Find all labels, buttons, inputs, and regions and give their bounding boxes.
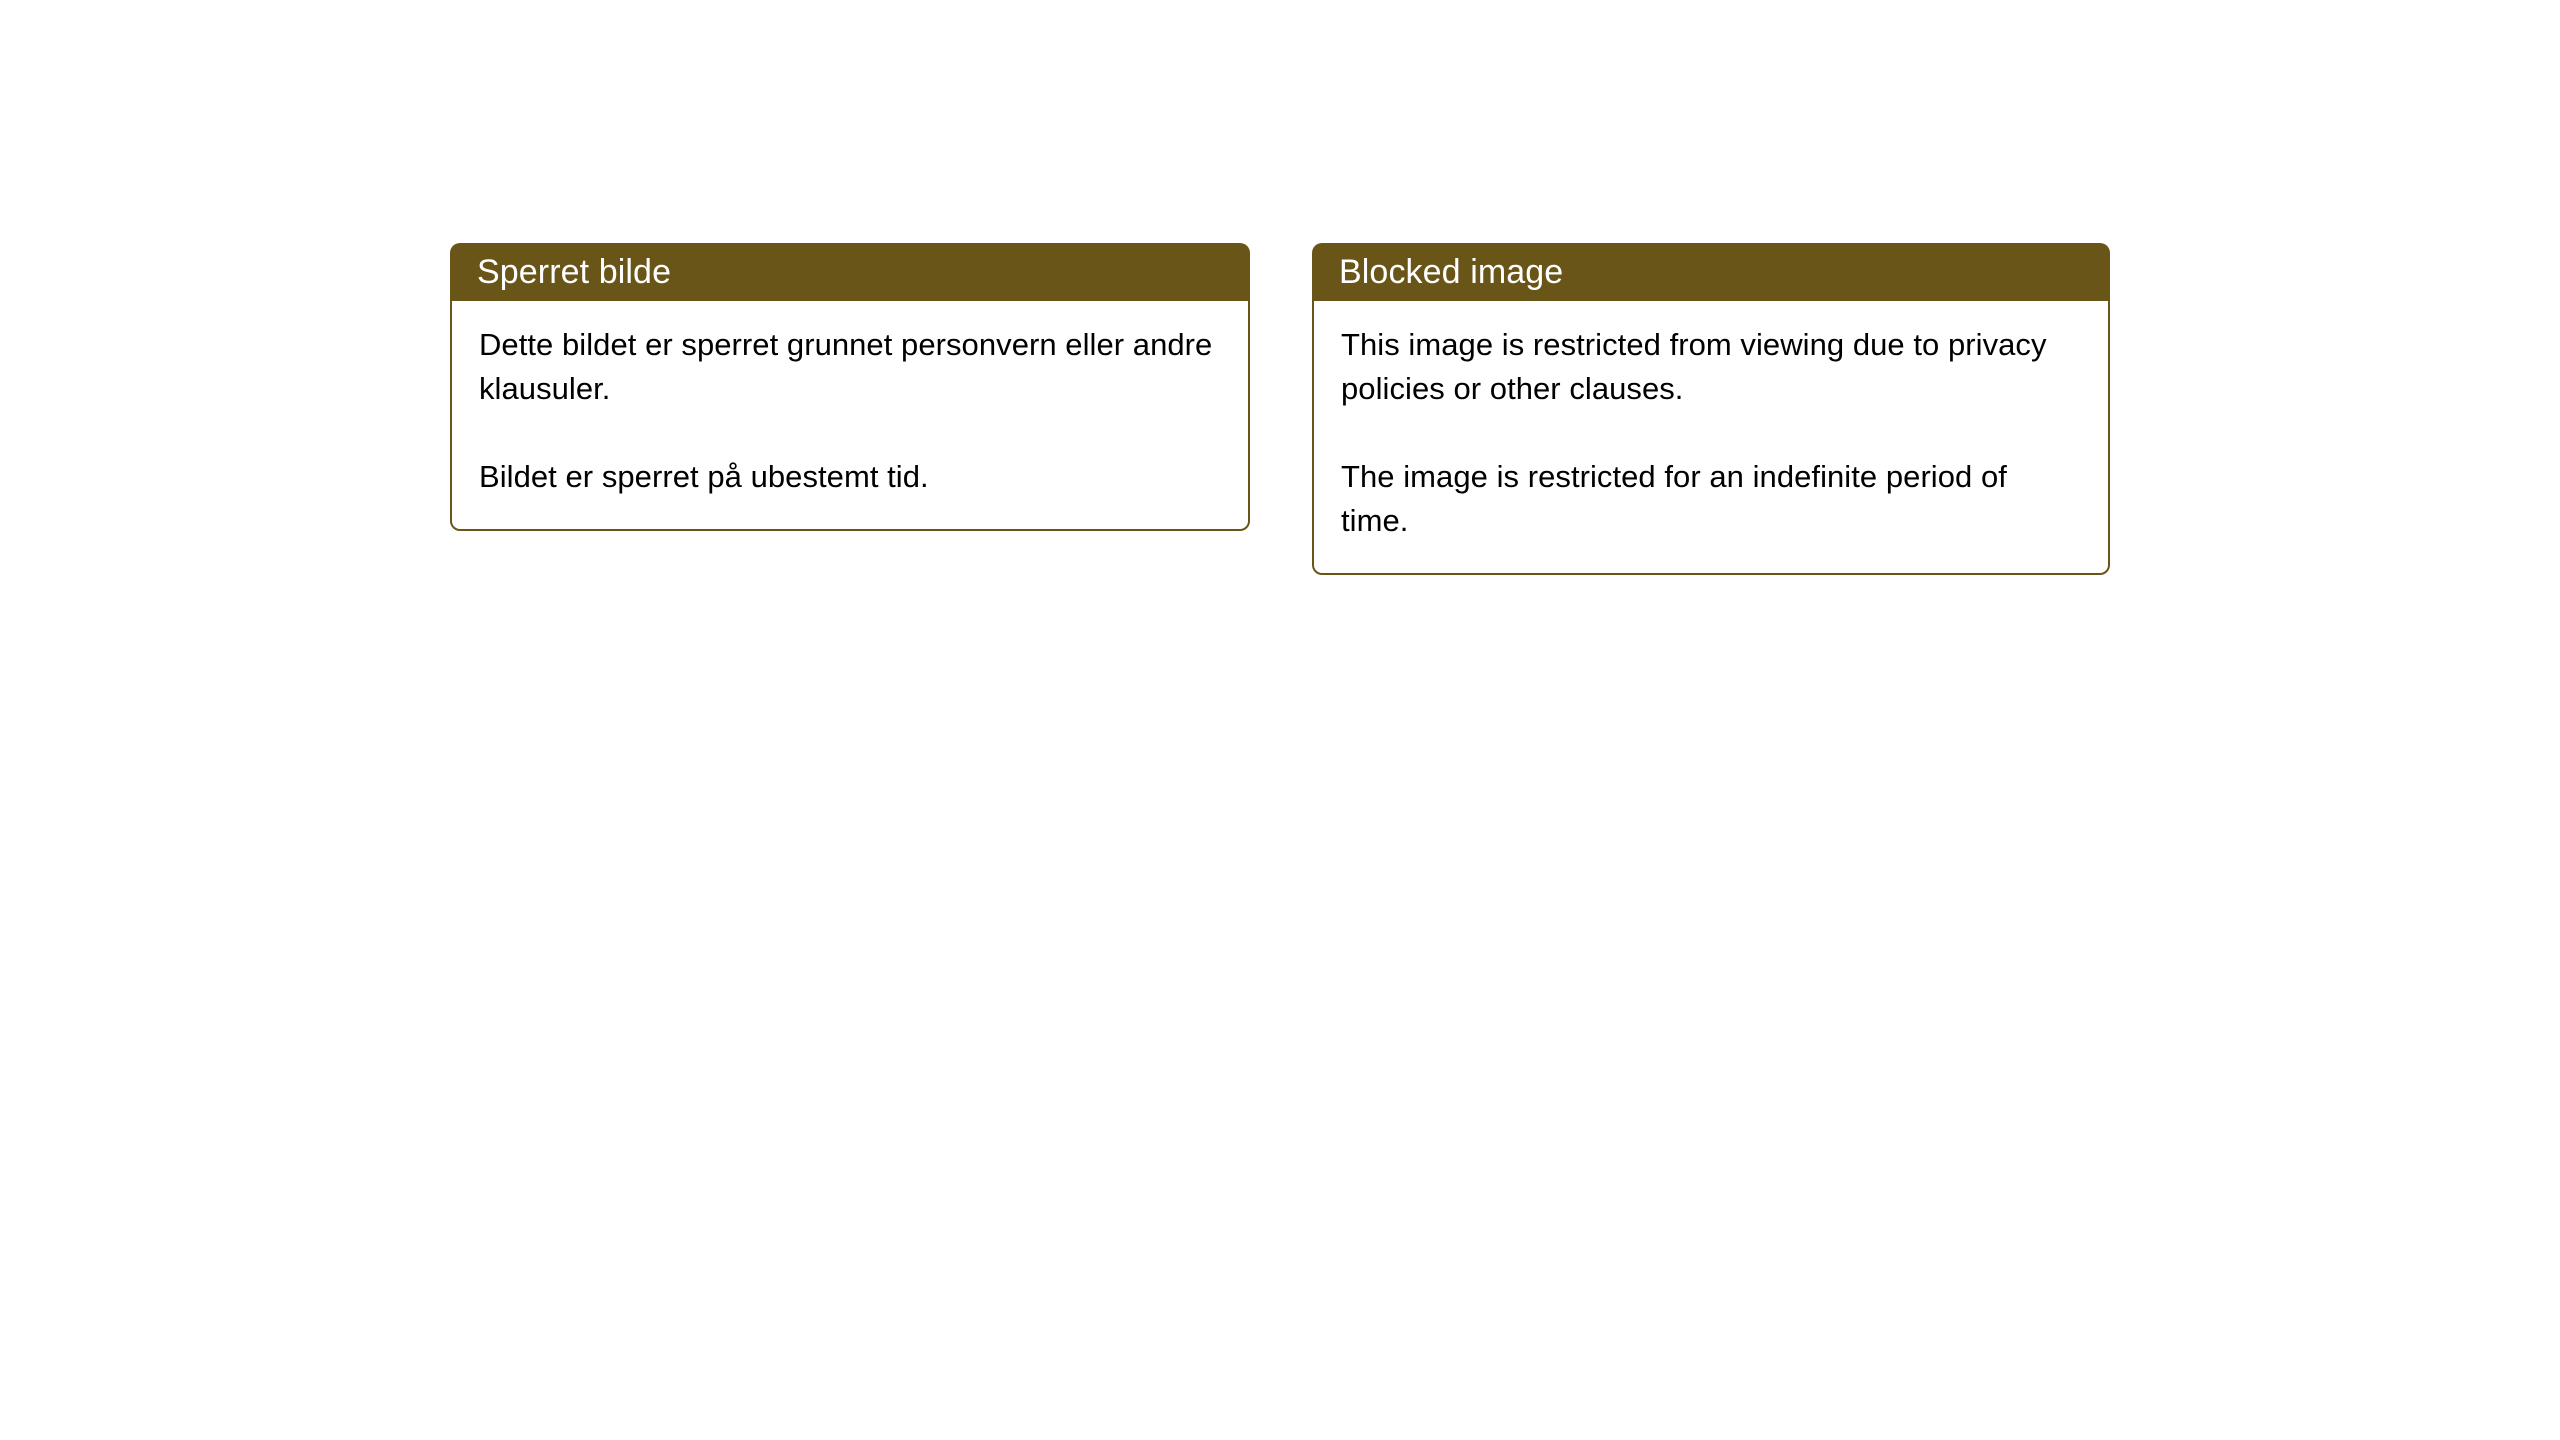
card-paragraph-reason-no: Dette bildet er sperret grunnet personve… <box>479 323 1222 411</box>
card-body-en: This image is restricted from viewing du… <box>1312 301 2110 575</box>
card-header-no: Sperret bilde <box>450 243 1250 301</box>
card-header-en: Blocked image <box>1312 243 2110 301</box>
card-paragraph-duration-en: The image is restricted for an indefinit… <box>1341 455 2082 543</box>
card-paragraph-reason-en: This image is restricted from viewing du… <box>1341 323 2082 411</box>
blocked-image-card-no: Sperret bilde Dette bildet er sperret gr… <box>450 243 1250 531</box>
blocked-image-card-en: Blocked image This image is restricted f… <box>1312 243 2110 575</box>
page-root: Sperret bilde Dette bildet er sperret gr… <box>0 0 2560 1440</box>
blocked-image-notice-group: Sperret bilde Dette bildet er sperret gr… <box>450 243 2110 575</box>
card-body-no: Dette bildet er sperret grunnet personve… <box>450 301 1250 531</box>
card-paragraph-duration-no: Bildet er sperret på ubestemt tid. <box>479 455 1222 499</box>
